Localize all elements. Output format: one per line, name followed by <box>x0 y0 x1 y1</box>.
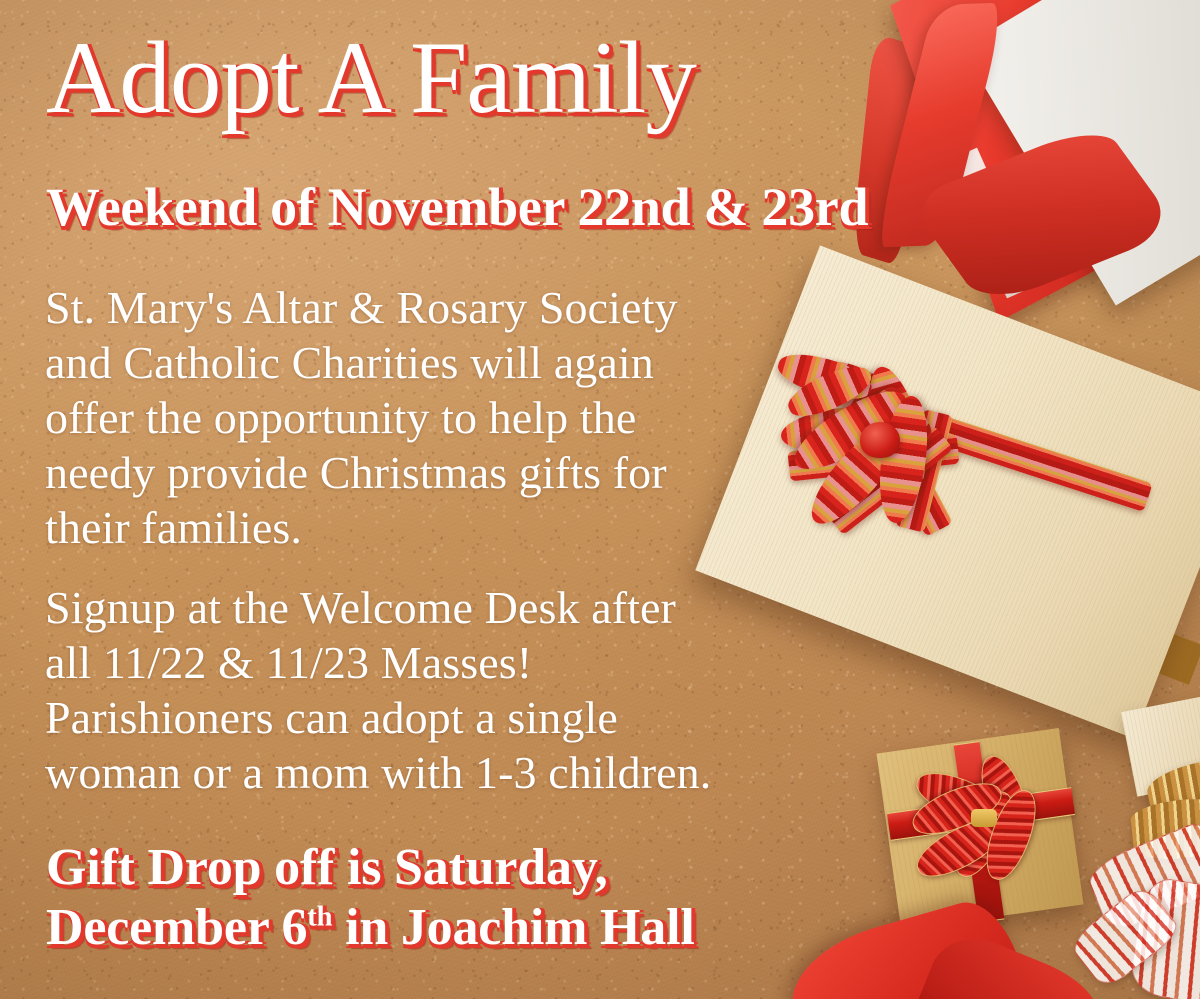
flyer-title: Adopt A Family <box>46 24 696 132</box>
paragraph-line: all 11/22 & 11/23 Masses! <box>45 635 835 690</box>
footer-date-ordinal: th <box>307 902 332 933</box>
paragraph-line: Signup at the Welcome Desk after <box>45 580 835 635</box>
footer-date: December 6 <box>46 899 307 956</box>
paragraph-line: and Catholic Charities will again <box>45 335 775 390</box>
flyer-subtitle: Weekend of November 22nd & 23rd <box>46 178 868 236</box>
paragraph-line: woman or a mom with 1-3 children. <box>45 745 835 800</box>
paragraph-line: Parishioners can adopt a single <box>45 690 835 745</box>
paragraph-about: St. Mary's Altar & Rosary Society and Ca… <box>45 280 775 555</box>
footer-line-location: December 6th in Joachim Hall <box>46 898 695 958</box>
adopt-a-family-flyer: Adopt A Family Weekend of November 22nd … <box>0 0 1200 999</box>
paragraph-line: their families. <box>45 500 775 555</box>
paragraph-line: St. Mary's Altar & Rosary Society <box>45 280 775 335</box>
paragraph-line: offer the opportunity to help the <box>45 390 775 445</box>
flyer-footer: Gift Drop off is Saturday, December 6th … <box>46 838 695 958</box>
footer-line-dropoff: Gift Drop off is Saturday, <box>46 838 695 898</box>
paragraph-line: needy provide Christmas gifts for <box>45 445 775 500</box>
paragraph-signup: Signup at the Welcome Desk after all 11/… <box>45 580 835 800</box>
footer-venue: in Joachim Hall <box>332 899 694 956</box>
